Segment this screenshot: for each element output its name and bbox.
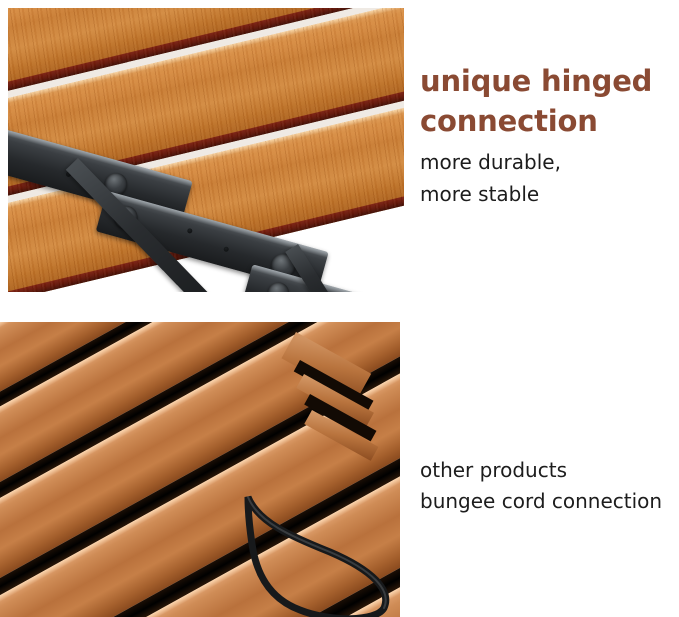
bungee-caption-line-2: bungee cord connection bbox=[420, 486, 678, 517]
headline-line-1: unique hinged bbox=[420, 61, 672, 101]
product-feature-comparison-page: unique hinged connection more durable, m… bbox=[0, 0, 679, 617]
bungee-cord-photo bbox=[0, 322, 400, 617]
bungee-cord bbox=[0, 322, 400, 617]
headline-subtext: more durable, more stable bbox=[420, 146, 670, 210]
hinged-connection-scene bbox=[8, 8, 404, 292]
hinged-connection-photo bbox=[8, 8, 404, 292]
subtext-line-2: more stable bbox=[420, 178, 670, 210]
headline: unique hinged connection bbox=[420, 61, 672, 141]
subtext-line-1: more durable, bbox=[420, 146, 670, 178]
headline-line-2: connection bbox=[420, 101, 672, 141]
bungee-caption-line-1: other products bbox=[420, 455, 678, 486]
bungee-caption: other products bungee cord connection bbox=[420, 455, 678, 517]
